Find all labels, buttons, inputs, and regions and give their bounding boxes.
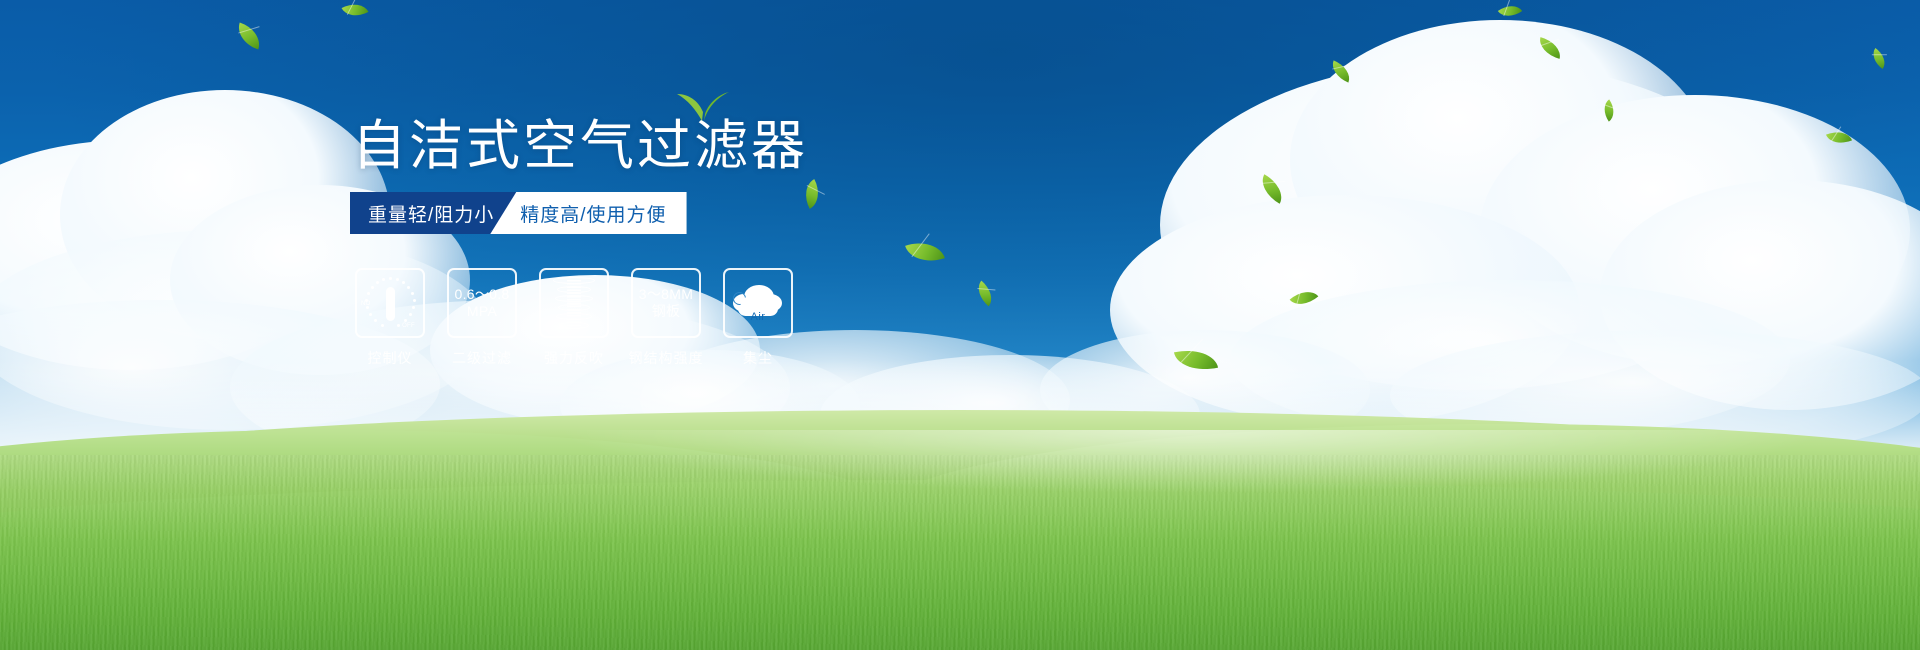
- grass-highlight: [0, 430, 1920, 550]
- feature-steel-structure-box: 3～8MM 钢板: [631, 268, 701, 338]
- filter-coil-icon: [550, 277, 598, 329]
- feature-strong-backblow-label: 强力反吹: [544, 348, 604, 368]
- feature-two-stage-filtration-box: 0.6～0.8 MPA: [447, 268, 517, 338]
- feature-list: NO OFF 控制仪 0.6～0.8 MPA 二级过滤: [355, 268, 793, 368]
- feature-steel-structure[interactable]: 3～8MM 钢板 钢结构强度: [631, 268, 701, 368]
- gauge-label-off: OFF: [402, 323, 415, 329]
- feature-dust-collection[interactable]: Air 集尘: [723, 268, 793, 368]
- tab-precision-convenience-label: 精度高/使用方便: [520, 200, 666, 227]
- gauge-label-no: NO: [361, 301, 371, 307]
- gauge-needle-icon: [386, 287, 395, 321]
- banner-stage: 自洁式空气过滤器 重量轻/阻力小 精度高/使用方便: [0, 0, 1920, 650]
- feature-controller-box: NO OFF: [355, 268, 425, 338]
- tab-precision-convenience[interactable]: 精度高/使用方便: [490, 192, 686, 234]
- feature-strong-backblow[interactable]: 强力反吹: [539, 268, 609, 368]
- pressure-text-icon: 0.6～0.8 MPA: [454, 286, 509, 320]
- air-cloud-icon: Air: [732, 281, 784, 325]
- feature-strong-backblow-box: [539, 268, 609, 338]
- steel-plate-text-icon: 3～8MM 钢板: [639, 286, 693, 320]
- subtitle-tabs: 重量轻/阻力小 精度高/使用方便: [350, 192, 687, 234]
- feature-two-stage-filtration-label: 二级过滤: [452, 348, 512, 368]
- tab-weight-resistance-label: 重量轻/阻力小: [368, 200, 494, 227]
- feature-two-stage-filtration[interactable]: 0.6～0.8 MPA 二级过滤: [447, 268, 517, 368]
- feature-controller-label: 控制仪: [368, 348, 413, 368]
- gauge-icon: NO OFF: [363, 276, 417, 330]
- feature-dust-collection-box: Air: [723, 268, 793, 338]
- feature-steel-structure-label: 钢结构强度: [629, 348, 704, 368]
- tab-weight-resistance[interactable]: 重量轻/阻力小: [350, 192, 516, 234]
- steel-line-2: 钢板: [639, 303, 693, 320]
- page-title: 自洁式空气过滤器: [352, 118, 808, 174]
- feature-dust-collection-label: 集尘: [743, 348, 773, 368]
- air-cloud-label: Air: [732, 311, 784, 323]
- pressure-line-2: MPA: [454, 303, 509, 320]
- leaf-decoration-icon: [676, 88, 730, 122]
- feature-controller[interactable]: NO OFF 控制仪: [355, 268, 425, 368]
- pressure-line-1: 0.6～0.8: [454, 286, 509, 303]
- steel-line-1: 3～8MM: [639, 286, 693, 303]
